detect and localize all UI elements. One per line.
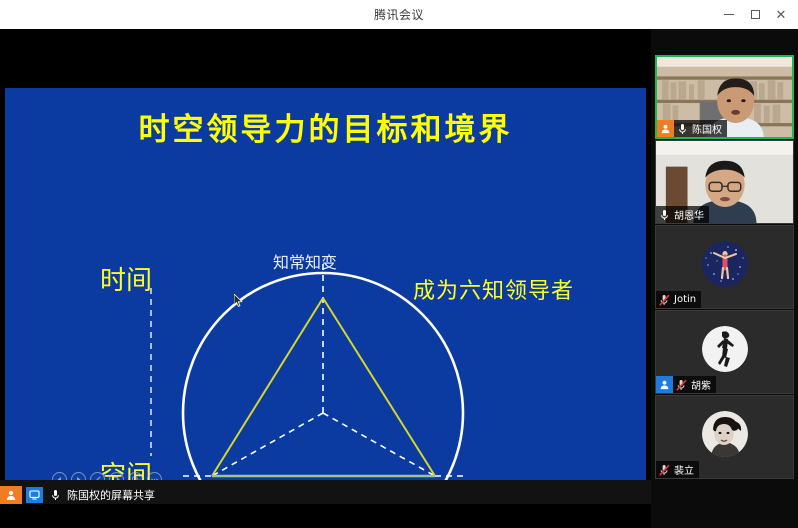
participant-name: Jotin <box>672 294 696 305</box>
participant-name: 胡恩华 <box>672 207 704 222</box>
mic-on-icon <box>656 206 672 223</box>
host-badge-icon <box>657 120 674 137</box>
mic-muted-icon <box>656 291 672 308</box>
maximize-icon <box>751 10 760 19</box>
participant-namebar: 胡恩华 <box>656 206 709 223</box>
window-titlebar: 腾讯会议 ✕ <box>0 0 798 29</box>
shared-screen-stage[interactable]: 时空领导力的目标和境界 时间 <box>0 29 651 504</box>
label-right-caption: 成为六知领导者 <box>413 273 574 305</box>
participant-tile[interactable]: 胡紫 <box>655 310 794 394</box>
avatar <box>702 411 748 457</box>
close-button[interactable]: ✕ <box>768 0 794 29</box>
participant-tile[interactable]: Jotin <box>655 225 794 309</box>
participant-namebar: 裴立 <box>656 461 699 478</box>
mic-on-icon <box>674 120 690 137</box>
participant-tile[interactable]: 裴立 <box>655 395 794 479</box>
avatar <box>702 326 748 372</box>
mic-on-icon <box>47 487 63 504</box>
participant-name: 胡紫 <box>689 377 711 392</box>
label-top-vertex: 知常知变 <box>273 249 337 273</box>
participant-badge-icon <box>656 376 673 393</box>
mic-muted-icon <box>673 376 689 393</box>
participant-name: 陈国权 <box>690 121 722 136</box>
label-time: 时间 <box>100 260 152 297</box>
minimize-icon <box>724 14 734 15</box>
participant-name: 裴立 <box>672 462 694 477</box>
mouse-cursor <box>234 294 243 307</box>
share-status-text: 陈国权的屏幕共享 <box>67 487 155 503</box>
minimize-button[interactable] <box>716 0 742 29</box>
close-icon: ✕ <box>776 8 787 21</box>
share-screen-icon <box>26 487 43 503</box>
maximize-button[interactable] <box>742 0 768 29</box>
presentation-slide[interactable]: 时空领导力的目标和境界 时间 <box>5 88 646 496</box>
window-title: 腾讯会议 <box>374 6 424 23</box>
host-badge-icon <box>0 486 22 504</box>
avatar <box>702 241 748 287</box>
participant-tile[interactable]: 陈国权 <box>655 55 794 139</box>
app-root: 腾讯会议 ✕ 时空领导力的目标和境界 <box>0 0 798 528</box>
participant-namebar: 胡紫 <box>656 376 716 393</box>
share-status-bar: 陈国权的屏幕共享 <box>0 480 651 504</box>
window-controls: ✕ <box>716 0 794 29</box>
participant-tile[interactable]: 胡恩华 <box>655 140 794 224</box>
mic-muted-icon <box>656 461 672 478</box>
participant-namebar: 陈国权 <box>657 120 727 137</box>
participant-rail[interactable]: 陈国权 胡恩华 <box>651 29 798 528</box>
participant-namebar: Jotin <box>656 291 701 308</box>
